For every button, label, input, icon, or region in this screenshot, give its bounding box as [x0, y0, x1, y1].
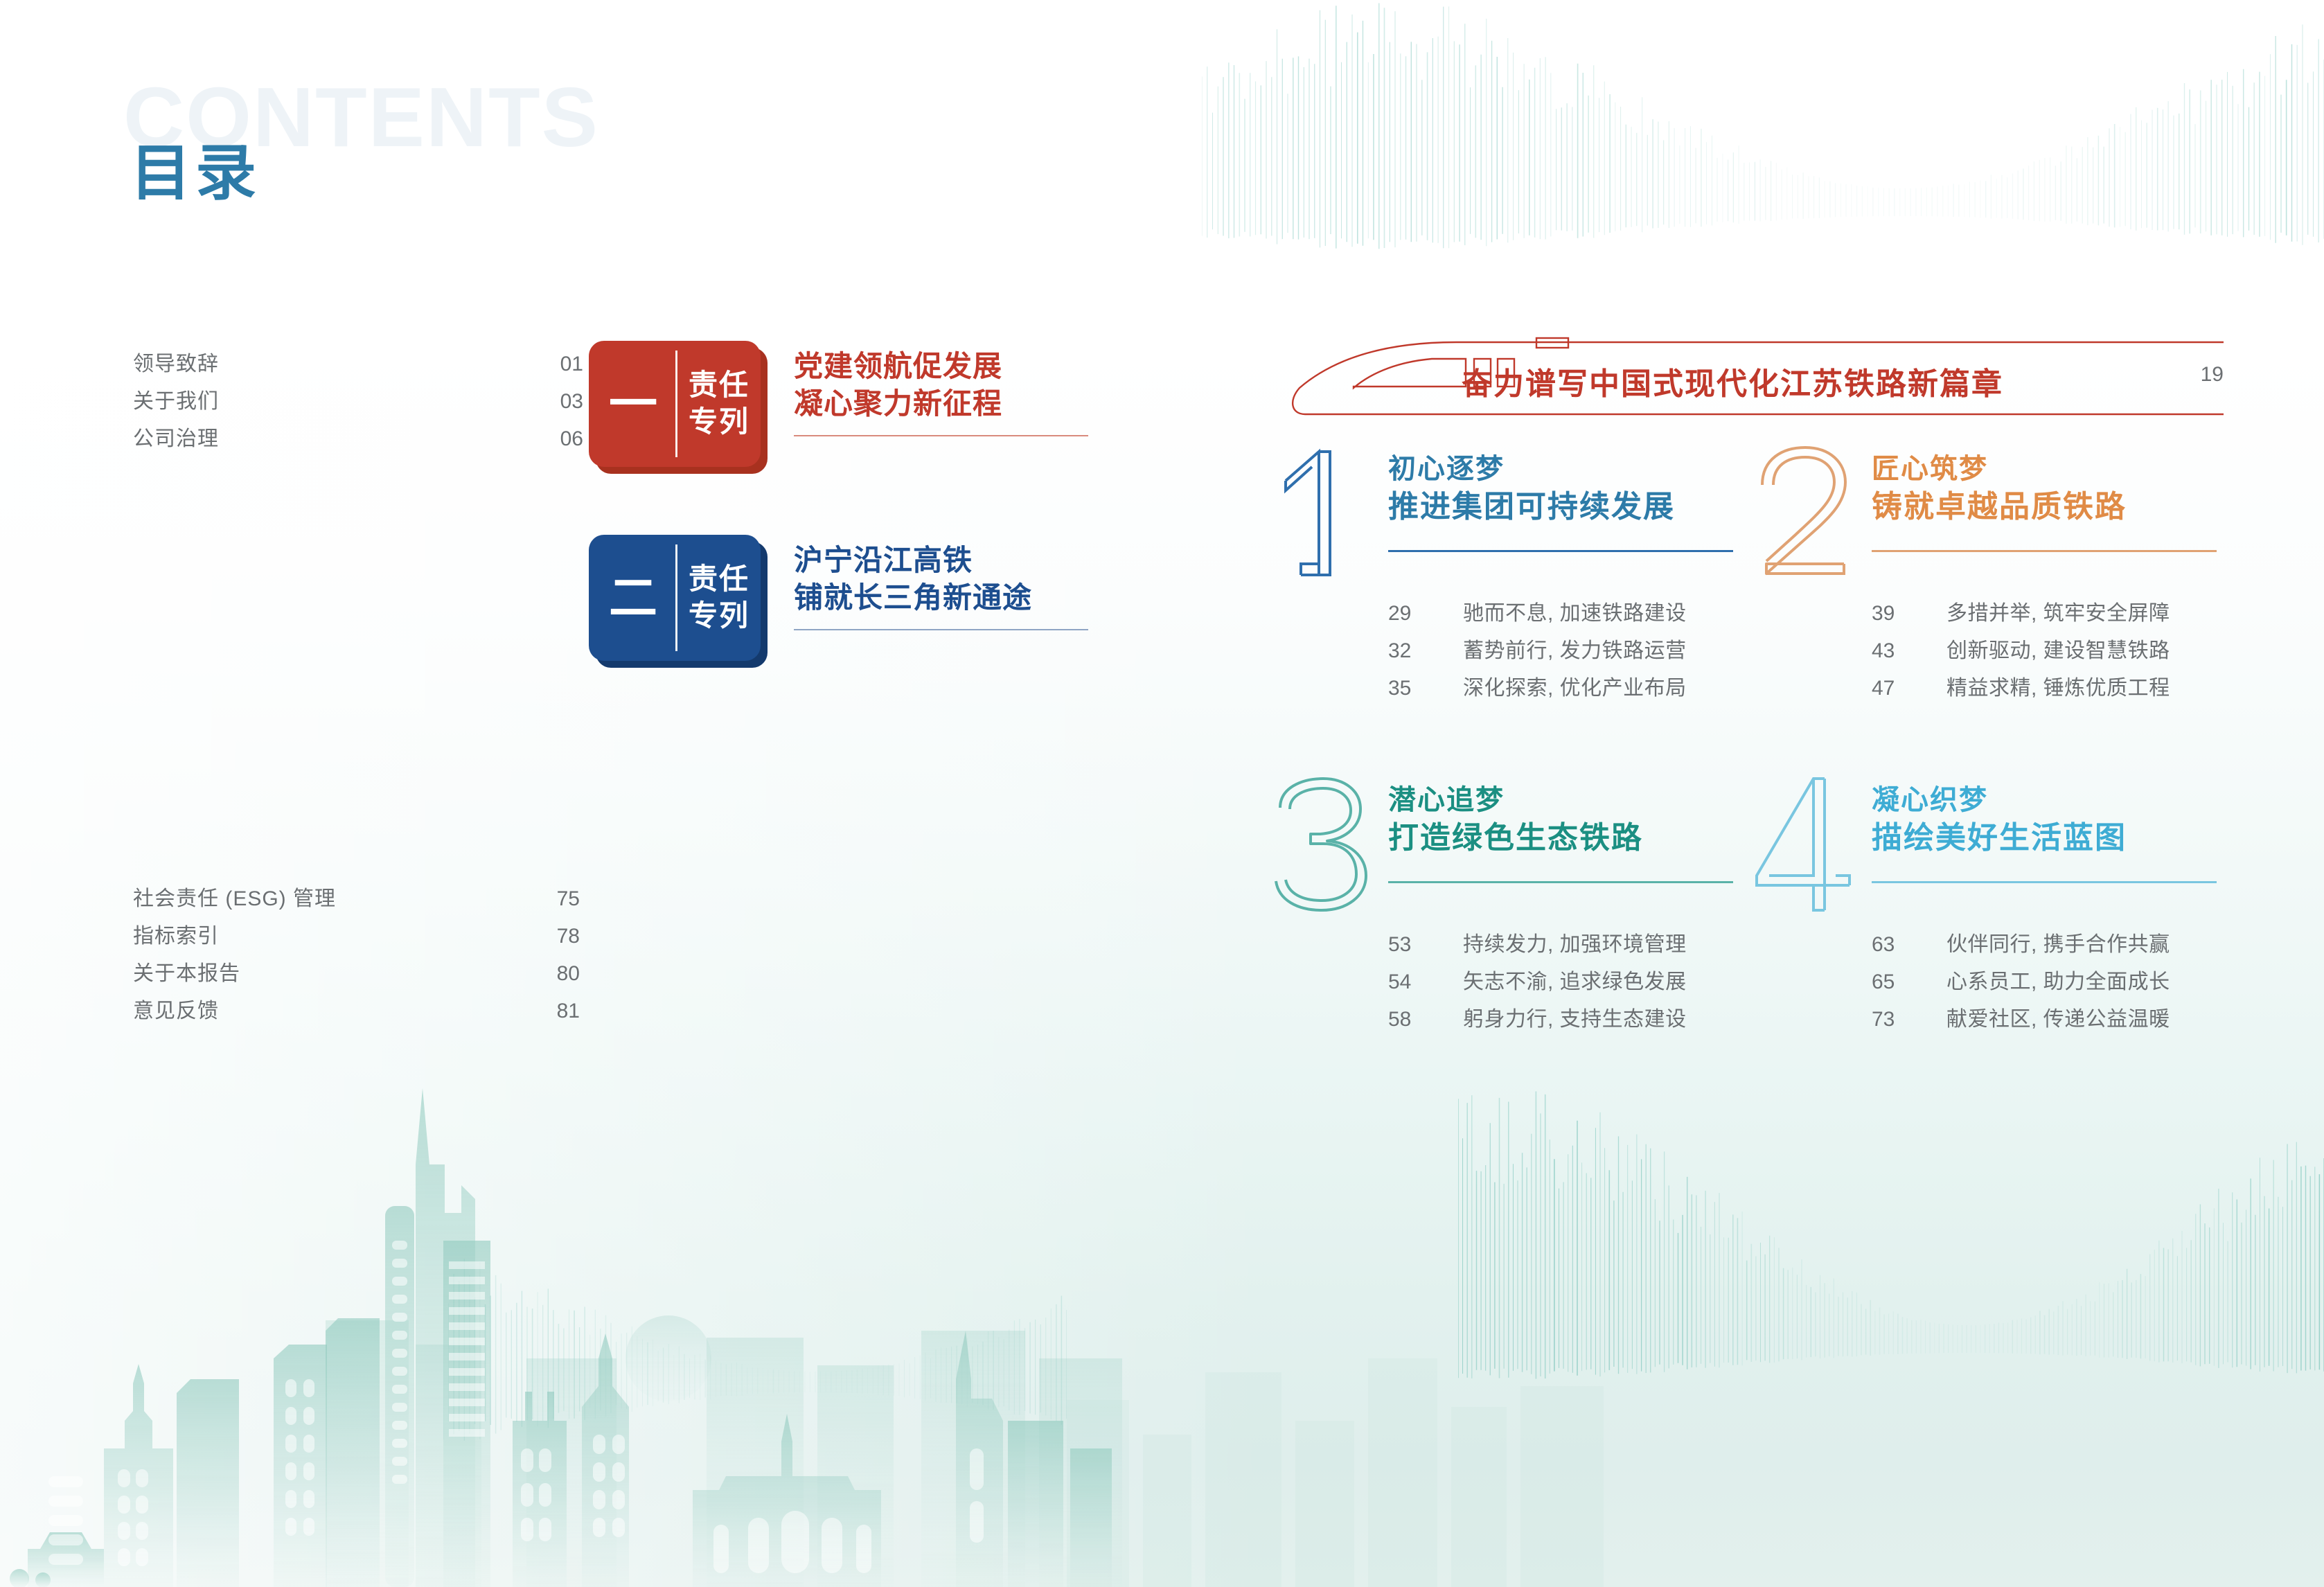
- toc-row-label: 关于我们: [133, 384, 535, 414]
- toc-row[interactable]: 公司治理06: [133, 421, 583, 459]
- badge-divider: [675, 351, 677, 457]
- chapter-item-page: 63: [1872, 933, 1946, 957]
- badge-label-top: 责任: [689, 564, 749, 595]
- badge-divider: [675, 544, 677, 651]
- toc-row-page: 78: [531, 925, 580, 948]
- badge-label-cell: 责任 专列: [677, 535, 761, 661]
- chapter-header: 匠心筑梦 铸就卓越品质铁路: [1753, 449, 2237, 600]
- chapter-subtitle: 凝心织梦: [1872, 783, 2127, 818]
- toc-row[interactable]: 意见反馈81: [133, 993, 580, 1031]
- badge-number-glyph: 二: [609, 574, 657, 622]
- chapter-item-list: 63伙伴同行, 携手合作共赢65心系员工, 助力全面成长73献爱社区, 传递公益…: [1753, 927, 2237, 1039]
- chapter-item-page: 43: [1872, 639, 1946, 663]
- chapter-underline: [1388, 881, 1733, 883]
- chapter-number-4-icon: [1753, 776, 1863, 914]
- chapter-item-page: 47: [1872, 677, 1946, 700]
- special-headline-2: 铺就长三角新通途: [794, 579, 1119, 617]
- chapter-item-row[interactable]: 39多措并举, 筑牢安全屏障: [1872, 596, 2237, 633]
- chapter-item-page: 32: [1388, 639, 1463, 663]
- toc-row-page: 81: [531, 1000, 580, 1023]
- toc-row-label: 公司治理: [133, 421, 535, 452]
- chapter-item-row[interactable]: 63伙伴同行, 携手合作共赢: [1872, 927, 2237, 964]
- chapter-block-3[interactable]: 潜心追梦 打造绿色生态铁路 53持续发力, 加强环境管理54矢志不渝, 追求绿色…: [1269, 780, 1754, 1039]
- toc-list-bottom: 社会责任 (ESG) 管理75指标索引78关于本报告80意见反馈81: [133, 881, 580, 1031]
- train-banner[interactable]: 奋力谱写中国式现代化江苏铁路新篇章 19: [1290, 337, 2225, 420]
- chapter-item-row[interactable]: 32蓄势前行, 发力铁路运营: [1388, 633, 1754, 671]
- badge-label-top: 责任: [689, 370, 749, 401]
- page-title-chinese: 目录: [130, 143, 260, 204]
- chapter-header: 潜心追梦 打造绿色生态铁路: [1269, 780, 1754, 931]
- chapter-item-row[interactable]: 53持续发力, 加强环境管理: [1388, 927, 1754, 964]
- chapter-titles: 匠心筑梦 铸就卓越品质铁路: [1872, 452, 2127, 526]
- chapter-item-text: 献爱社区, 传递公益温暖: [1946, 1002, 2170, 1032]
- train-banner-title: 奋力谱写中国式现代化江苏铁路新篇章: [1462, 359, 2003, 403]
- chapter-header: 凝心织梦 描绘美好生活蓝图: [1753, 780, 2237, 931]
- special-headline-2: 凝心聚力新征程: [794, 385, 1119, 423]
- page-title: CONTENTS 目录: [123, 75, 599, 159]
- chapter-title: 铸就卓越品质铁路: [1872, 487, 2127, 526]
- toc-row-page: 01: [535, 353, 583, 376]
- chapter-titles: 初心逐梦 推进集团可持续发展: [1388, 452, 1675, 526]
- chapter-item-page: 29: [1388, 602, 1463, 626]
- toc-row[interactable]: 社会责任 (ESG) 管理75: [133, 881, 580, 919]
- chapter-block-4[interactable]: 凝心织梦 描绘美好生活蓝图 63伙伴同行, 携手合作共赢65心系员工, 助力全面…: [1753, 780, 2237, 1039]
- chapter-item-row[interactable]: 65心系员工, 助力全面成长: [1872, 964, 2237, 1002]
- chapter-number-1-icon: [1269, 445, 1380, 583]
- toc-row-page: 75: [531, 887, 580, 911]
- chapter-title: 描绘美好生活蓝图: [1872, 818, 2127, 858]
- toc-row[interactable]: 关于我们03: [133, 384, 583, 421]
- chapter-subtitle: 潜心追梦: [1388, 783, 1643, 818]
- toc-row-label: 领导致辞: [133, 346, 535, 377]
- chapter-title: 推进集团可持续发展: [1388, 487, 1675, 526]
- chapter-item-page: 54: [1388, 970, 1463, 994]
- chapter-underline: [1872, 550, 2217, 552]
- chapter-block-2[interactable]: 匠心筑梦 铸就卓越品质铁路 39多措并举, 筑牢安全屏障43创新驱动, 建设智慧…: [1753, 449, 2237, 708]
- chapter-subtitle: 初心逐梦: [1388, 452, 1675, 487]
- badge-face: 一 责任 专列: [589, 341, 761, 467]
- chapter-subtitle: 匠心筑梦: [1872, 452, 2127, 487]
- chapter-underline: [1872, 881, 2217, 883]
- toc-row-page: 80: [531, 962, 580, 986]
- special-badge-blue: 二 责任 专列: [589, 535, 768, 668]
- special-feature-red[interactable]: 一 责任 专列 党建领航促发展 凝心聚力新征程: [589, 341, 1119, 474]
- chapter-item-text: 深化探索, 优化产业布局: [1463, 671, 1687, 701]
- chapter-number-2-icon: [1753, 445, 1863, 583]
- chapter-item-text: 蓄势前行, 发力铁路运营: [1463, 633, 1687, 664]
- toc-row-page: 03: [535, 390, 583, 414]
- special-badge-red: 一 责任 专列: [589, 341, 768, 474]
- chapter-item-text: 矢志不渝, 追求绿色发展: [1463, 964, 1687, 995]
- chapter-item-text: 精益求精, 锤炼优质工程: [1946, 671, 2170, 701]
- chapter-item-row[interactable]: 47精益求精, 锤炼优质工程: [1872, 671, 2237, 708]
- toc-row-label: 意见反馈: [133, 993, 531, 1024]
- toc-row-label: 社会责任 (ESG) 管理: [133, 881, 531, 912]
- toc-row-label: 关于本报告: [133, 956, 531, 986]
- chapter-number-3-icon: [1269, 776, 1380, 914]
- chapter-item-list: 53持续发力, 加强环境管理54矢志不渝, 追求绿色发展58躬身力行, 支持生态…: [1269, 927, 1754, 1039]
- special-headline-1: 党建领航促发展: [794, 348, 1119, 385]
- chapter-item-row[interactable]: 73献爱社区, 传递公益温暖: [1872, 1002, 2237, 1039]
- chapter-item-row[interactable]: 29驰而不息, 加速铁路建设: [1388, 596, 1754, 633]
- chapter-title: 打造绿色生态铁路: [1388, 818, 1643, 858]
- chapter-titles: 凝心织梦 描绘美好生活蓝图: [1872, 783, 2127, 858]
- chapter-header: 初心逐梦 推进集团可持续发展: [1269, 449, 1754, 600]
- chapter-item-page: 58: [1388, 1008, 1463, 1031]
- toc-row-label: 指标索引: [133, 919, 531, 949]
- chapter-item-page: 53: [1388, 933, 1463, 957]
- special-text-block: 沪宁沿江高铁 铺就长三角新通途: [794, 535, 1119, 630]
- train-banner-page-number: 19: [2201, 363, 2224, 387]
- chapter-titles: 潜心追梦 打造绿色生态铁路: [1388, 783, 1643, 858]
- chapter-item-text: 躬身力行, 支持生态建设: [1463, 1002, 1687, 1032]
- special-underline: [794, 435, 1088, 436]
- special-underline: [794, 629, 1088, 630]
- toc-row[interactable]: 关于本报告80: [133, 956, 580, 993]
- toc-row[interactable]: 指标索引78: [133, 919, 580, 956]
- toc-list-top: 领导致辞01关于我们03公司治理06: [133, 346, 583, 459]
- chapter-item-page: 35: [1388, 677, 1463, 700]
- chapter-item-page: 65: [1872, 970, 1946, 994]
- badge-label-bottom: 专列: [689, 601, 749, 632]
- chapter-underline: [1388, 550, 1733, 552]
- chapter-item-text: 伙伴同行, 携手合作共赢: [1946, 927, 2170, 957]
- special-text-block: 党建领航促发展 凝心聚力新征程: [794, 341, 1119, 436]
- chapter-block-1[interactable]: 初心逐梦 推进集团可持续发展 29驰而不息, 加速铁路建设32蓄势前行, 发力铁…: [1269, 449, 1754, 708]
- chapter-item-row[interactable]: 35深化探索, 优化产业布局: [1388, 671, 1754, 708]
- chapter-item-page: 73: [1872, 1008, 1946, 1031]
- chapter-item-text: 驰而不息, 加速铁路建设: [1463, 596, 1687, 626]
- badge-label-cell: 责任 专列: [677, 341, 761, 467]
- chapter-item-text: 多措并举, 筑牢安全屏障: [1946, 596, 2170, 626]
- chapter-item-text: 持续发力, 加强环境管理: [1463, 927, 1687, 957]
- chapter-item-list: 29驰而不息, 加速铁路建设32蓄势前行, 发力铁路运营35深化探索, 优化产业…: [1269, 596, 1754, 708]
- chapter-item-row[interactable]: 43创新驱动, 建设智慧铁路: [1872, 633, 2237, 671]
- chapter-item-page: 39: [1872, 602, 1946, 626]
- toc-row-page: 06: [535, 427, 583, 451]
- toc-row[interactable]: 领导致辞01: [133, 346, 583, 384]
- badge-number-cell: 二: [589, 535, 677, 661]
- special-headline-1: 沪宁沿江高铁: [794, 542, 1119, 579]
- badge-label-bottom: 专列: [689, 407, 749, 438]
- badge-face: 二 责任 专列: [589, 535, 761, 661]
- chapter-item-row[interactable]: 58躬身力行, 支持生态建设: [1388, 1002, 1754, 1039]
- badge-number-glyph: 一: [609, 380, 657, 428]
- badge-number-cell: 一: [589, 341, 677, 467]
- chapter-item-text: 创新驱动, 建设智慧铁路: [1946, 633, 2170, 664]
- chapter-item-text: 心系员工, 助力全面成长: [1946, 964, 2170, 995]
- special-feature-blue[interactable]: 二 责任 专列 沪宁沿江高铁 铺就长三角新通途: [589, 535, 1119, 668]
- chapter-item-row[interactable]: 54矢志不渝, 追求绿色发展: [1388, 964, 1754, 1002]
- chapter-item-list: 39多措并举, 筑牢安全屏障43创新驱动, 建设智慧铁路47精益求精, 锤炼优质…: [1753, 596, 2237, 708]
